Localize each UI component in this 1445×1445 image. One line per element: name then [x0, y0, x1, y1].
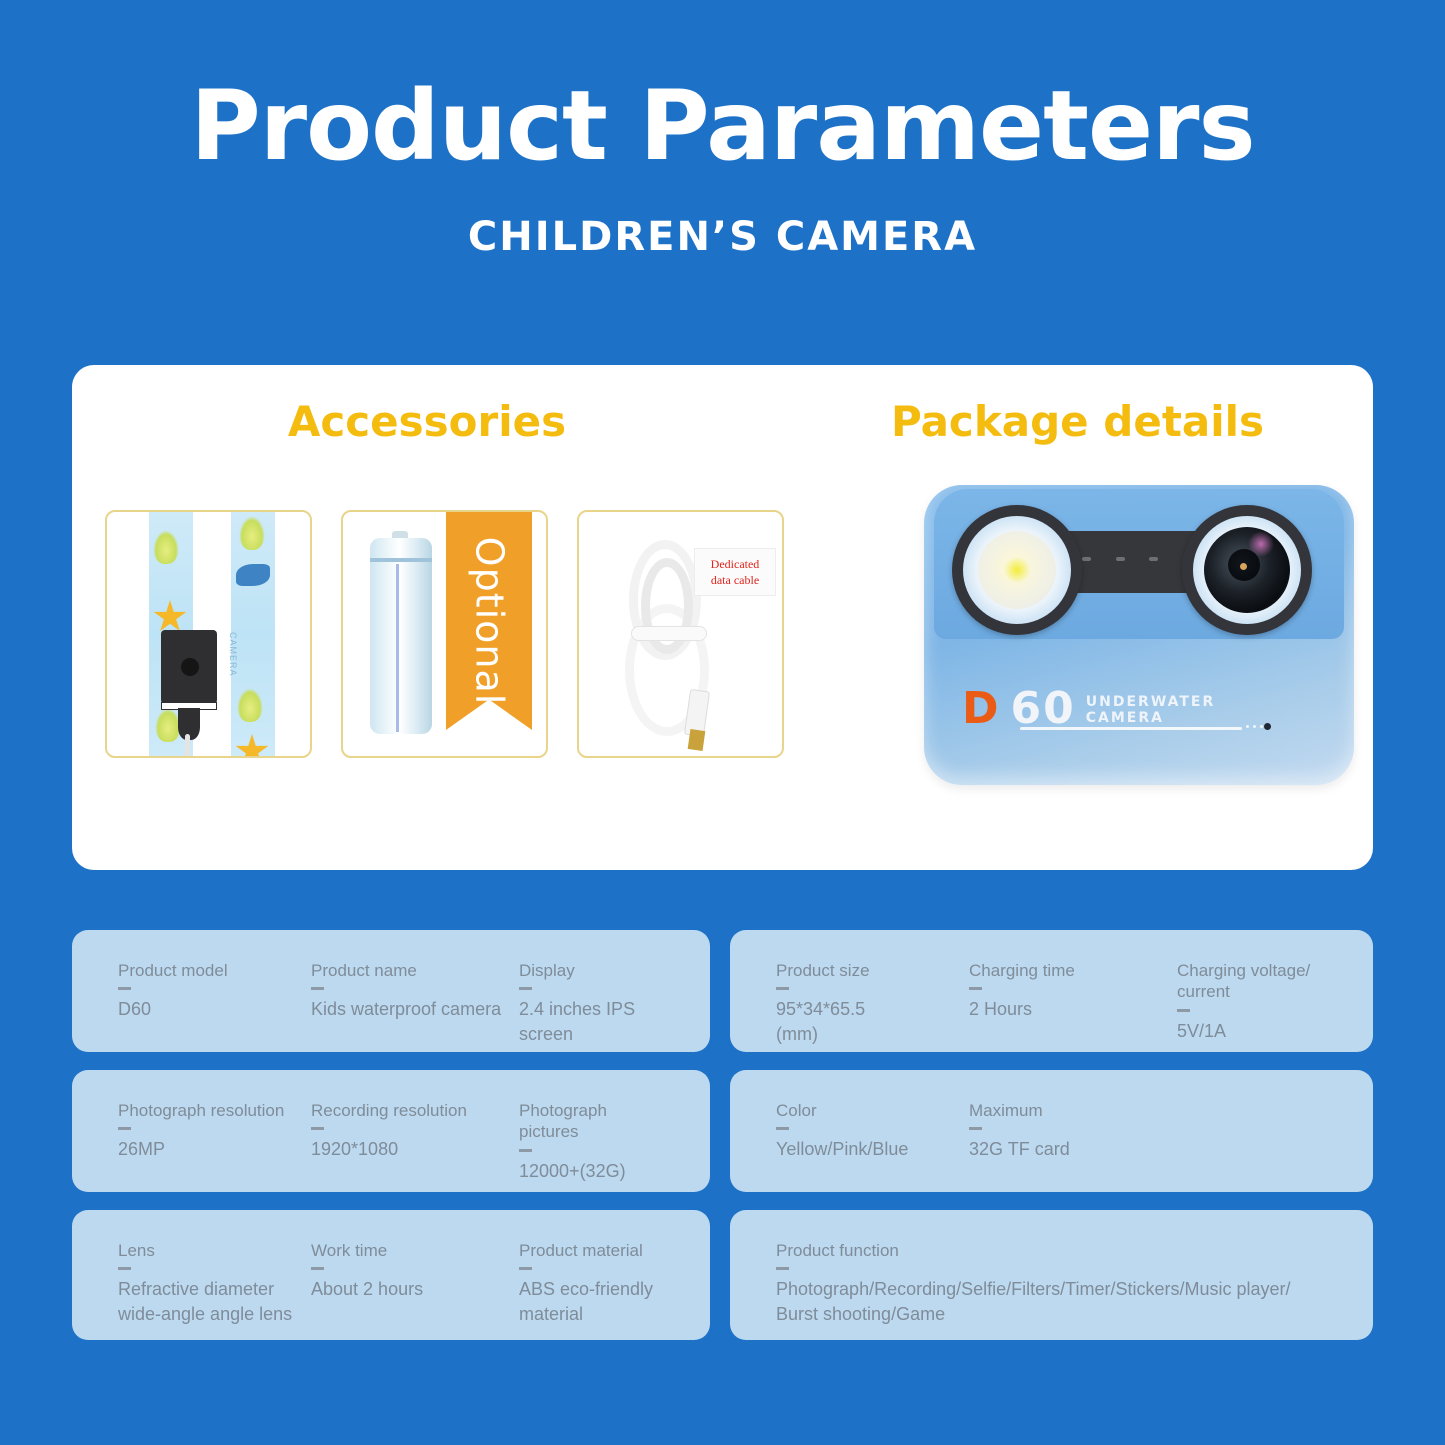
- spec-value: ABS eco-friendly material: [519, 1277, 664, 1326]
- spec-divider-icon: [118, 987, 131, 990]
- spec-label: Product material: [519, 1240, 664, 1261]
- camera-brand-dots-icon: [1246, 725, 1263, 728]
- spec-value: 26MP: [118, 1137, 311, 1161]
- camera-brand-underline: [1020, 727, 1242, 730]
- spec-value: 95*34*65.5 (mm): [776, 997, 969, 1046]
- spec-item: Product model D60: [118, 960, 311, 1022]
- cable-tie-icon: [631, 626, 707, 641]
- spec-label: Product size: [776, 960, 969, 981]
- spec-label: Recording resolution: [311, 1100, 519, 1121]
- package-heading-wrap: Package details: [782, 397, 1373, 446]
- camera-bridge-dots-icon: [1082, 557, 1192, 563]
- page-title: Product Parameters: [0, 78, 1445, 174]
- spec-card: Color Yellow/Pink/Blue Maximum 32G TF ca…: [730, 1070, 1373, 1192]
- brand-letter: D: [962, 687, 1001, 731]
- lanyard-cord-icon: [185, 734, 190, 758]
- spec-value: About 2 hours: [311, 1277, 519, 1301]
- spec-item: Product material ABS eco-friendly materi…: [519, 1240, 664, 1310]
- battery-stripe-icon: [396, 564, 399, 732]
- spec-card: Lens Refractive diameter wide-angle angl…: [72, 1210, 710, 1340]
- spec-label: Lens: [118, 1240, 311, 1261]
- spec-label: Product model: [118, 960, 311, 981]
- spec-divider-icon: [776, 1127, 789, 1130]
- spec-item: Product function Photograph/Recording/Se…: [776, 1240, 1327, 1310]
- cable-label-line1: Dedicated: [711, 556, 760, 572]
- dedicated-cable-label: Dedicated data cable: [694, 548, 776, 596]
- camera-product-image: D 60 UNDERWATER CAMERA: [852, 475, 1292, 805]
- spec-label: Photograph resolution: [118, 1100, 311, 1121]
- spec-divider-icon: [776, 987, 789, 990]
- spec-label: Photograph pictures: [519, 1100, 664, 1143]
- spec-label: Charging time: [969, 960, 1177, 981]
- spec-divider-icon: [311, 1127, 324, 1130]
- lanyard-clip-dot-icon: [181, 658, 199, 676]
- spec-label: Maximum: [969, 1100, 1177, 1121]
- page-header: Product Parameters CHILDREN’S CAMERA: [0, 0, 1445, 260]
- spec-label: Product name: [311, 960, 519, 981]
- accessory-battery-thumbnail[interactable]: Optional: [341, 510, 548, 758]
- accessories-heading-wrap: Accessories: [72, 397, 782, 446]
- spec-value: 2.4 inches IPS screen: [519, 997, 664, 1046]
- spec-card: Product model D60 Product name Kids wate…: [72, 930, 710, 1052]
- spec-divider-icon: [311, 987, 324, 990]
- spec-value: 1920*1080: [311, 1137, 519, 1161]
- spec-item: Charging voltage/ current 5V/1A: [1177, 960, 1327, 1022]
- spec-divider-icon: [519, 987, 532, 990]
- spec-card: Photograph resolution 26MP Recording res…: [72, 1070, 710, 1192]
- optional-ribbon-badge: Optional: [446, 512, 532, 730]
- spec-divider-icon: [118, 1267, 131, 1270]
- battery-band-icon: [370, 558, 432, 562]
- package-details-heading: Package details: [891, 397, 1264, 446]
- spec-value: Yellow/Pink/Blue: [776, 1137, 969, 1161]
- accessory-thumbnails: CAMERA Optional: [105, 510, 784, 758]
- spec-item: Photograph resolution 26MP: [118, 1100, 311, 1162]
- spec-value: Kids waterproof camera: [311, 997, 519, 1021]
- spec-item: Product name Kids waterproof camera: [311, 960, 519, 1022]
- spec-value: Refractive diameter wide-angle angle len…: [118, 1277, 311, 1326]
- spec-item-empty: [1177, 1100, 1327, 1162]
- spec-value: 12000+(32G): [519, 1159, 664, 1183]
- spec-label: Charging voltage/ current: [1177, 960, 1327, 1003]
- spec-divider-icon: [311, 1267, 324, 1270]
- battery-icon: [370, 538, 432, 734]
- usb-contact-icon: [688, 729, 706, 751]
- camera-flash-icon: [952, 505, 1082, 635]
- camera-lens-icon: [1182, 505, 1312, 635]
- spec-label: Product function: [776, 1240, 1327, 1261]
- spec-value: 5V/1A: [1177, 1019, 1327, 1043]
- spec-item: Work time About 2 hours: [311, 1240, 519, 1310]
- specifications-grid: Product model D60 Product name Kids wate…: [72, 930, 1373, 1340]
- spec-item: Charging time 2 Hours: [969, 960, 1177, 1022]
- spec-item: Recording resolution 1920*1080: [311, 1100, 519, 1162]
- camera-mic-icon: [1264, 723, 1271, 730]
- spec-label: Display: [519, 960, 664, 981]
- showcase-headings: Accessories Package details: [72, 365, 1373, 446]
- spec-divider-icon: [118, 1127, 131, 1130]
- brand-number: 60: [1011, 687, 1076, 731]
- spec-item: Maximum 32G TF card: [969, 1100, 1177, 1162]
- spec-divider-icon: [776, 1267, 789, 1270]
- spec-value: Photograph/Recording/Selfie/Filters/Time…: [776, 1277, 1327, 1326]
- spec-value: 2 Hours: [969, 997, 1177, 1021]
- accessory-lanyard-thumbnail[interactable]: CAMERA: [105, 510, 312, 758]
- spec-divider-icon: [519, 1149, 532, 1152]
- spec-divider-icon: [969, 1127, 982, 1130]
- spec-item: Display 2.4 inches IPS screen: [519, 960, 664, 1022]
- accessory-data-cable-thumbnail[interactable]: Dedicated data cable: [577, 510, 784, 758]
- spec-item: Photograph pictures 12000+(32G): [519, 1100, 664, 1162]
- spec-value: D60: [118, 997, 311, 1021]
- cable-label-line2: data cable: [711, 572, 759, 588]
- spec-divider-icon: [969, 987, 982, 990]
- spec-label: Color: [776, 1100, 969, 1121]
- spec-divider-icon: [1177, 1009, 1190, 1012]
- spec-card: Product size 95*34*65.5 (mm) Charging ti…: [730, 930, 1373, 1052]
- spec-item: Lens Refractive diameter wide-angle angl…: [118, 1240, 311, 1310]
- lanyard-strap-text: CAMERA: [228, 632, 238, 677]
- optional-ribbon-label: Optional: [467, 537, 511, 706]
- page-subtitle: CHILDREN’S CAMERA: [0, 214, 1445, 260]
- spec-divider-icon: [519, 1267, 532, 1270]
- accessories-heading: Accessories: [288, 397, 566, 446]
- spec-item: Color Yellow/Pink/Blue: [776, 1100, 969, 1162]
- camera-branding: D 60 UNDERWATER CAMERA: [962, 687, 1292, 731]
- showcase-card: Accessories Package details CAMERA: [72, 365, 1373, 870]
- spec-item: Product size 95*34*65.5 (mm): [776, 960, 969, 1022]
- spec-label: Work time: [311, 1240, 519, 1261]
- spec-value: 32G TF card: [969, 1137, 1177, 1161]
- spec-card: Product function Photograph/Recording/Se…: [730, 1210, 1373, 1340]
